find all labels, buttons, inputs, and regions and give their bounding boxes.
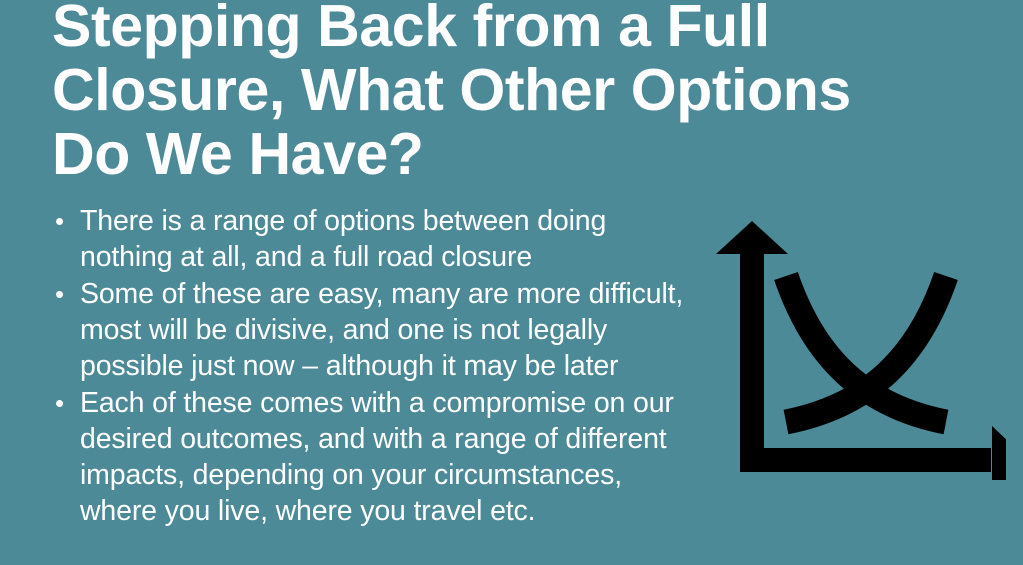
- bullet-marker-icon: •: [55, 385, 73, 421]
- list-item: • There is a range of options between do…: [52, 203, 702, 275]
- bullet-marker-icon: •: [55, 203, 73, 239]
- list-item: • Each of these comes with a compromise …: [52, 385, 702, 529]
- bullet-list: • There is a range of options between do…: [52, 203, 702, 530]
- bullet-text: There is a range of options between doin…: [80, 203, 702, 275]
- bullet-marker-icon: •: [55, 276, 73, 312]
- slide-title: Stepping Back from a Full Closure, What …: [52, 0, 882, 186]
- list-item: • Some of these are easy, many are more …: [52, 276, 702, 384]
- supply-demand-graph-icon: [706, 210, 1006, 480]
- bullet-text: Some of these are easy, many are more di…: [80, 276, 702, 384]
- slide-canvas: Stepping Back from a Full Closure, What …: [0, 0, 1023, 565]
- bullet-text: Each of these comes with a compromise on…: [80, 385, 702, 529]
